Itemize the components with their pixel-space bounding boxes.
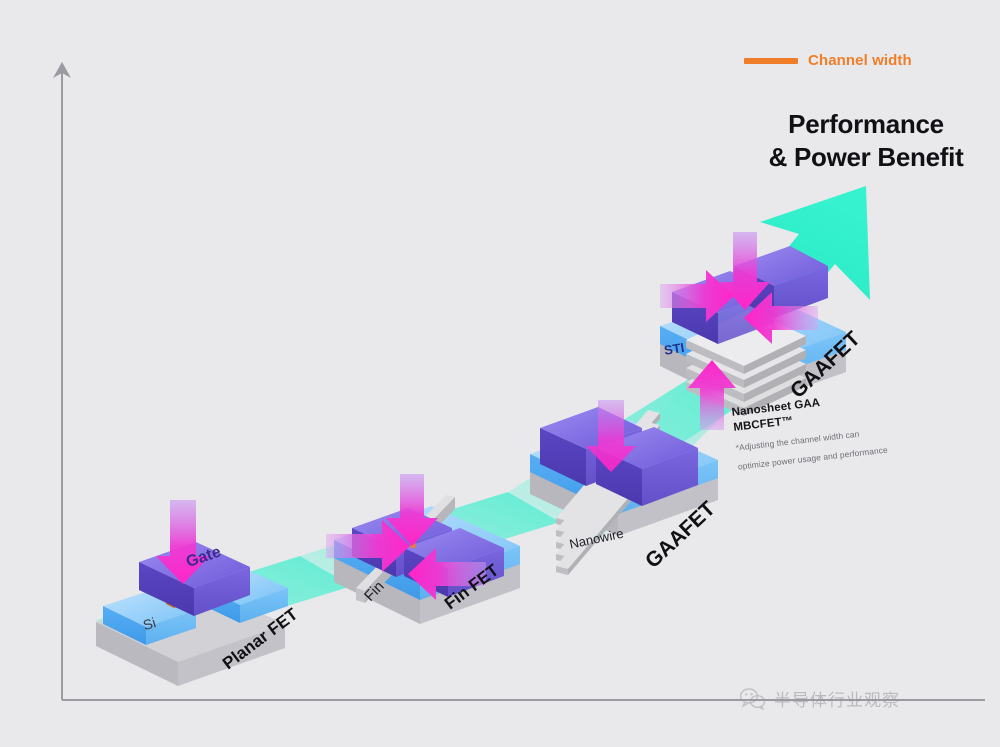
stage-fin-fet — [326, 474, 520, 624]
legend: Channel width — [744, 52, 912, 69]
headline-line-1: Performance — [746, 108, 986, 141]
label-sti: STI — [663, 340, 685, 358]
channel-width-swatch — [744, 58, 798, 64]
wechat-icon — [740, 688, 766, 710]
watermark-text: 半导体行业观察 — [774, 686, 900, 711]
stage-planar-fet — [96, 500, 288, 686]
headline-line-2: & Power Benefit — [746, 141, 986, 174]
watermark: 半导体行业观察 — [740, 686, 900, 711]
legend-label: Channel width — [808, 52, 912, 69]
diagram-canvas: Channel width Performance & Power Benefi… — [0, 0, 1000, 747]
page-title: Performance & Power Benefit — [746, 108, 986, 174]
